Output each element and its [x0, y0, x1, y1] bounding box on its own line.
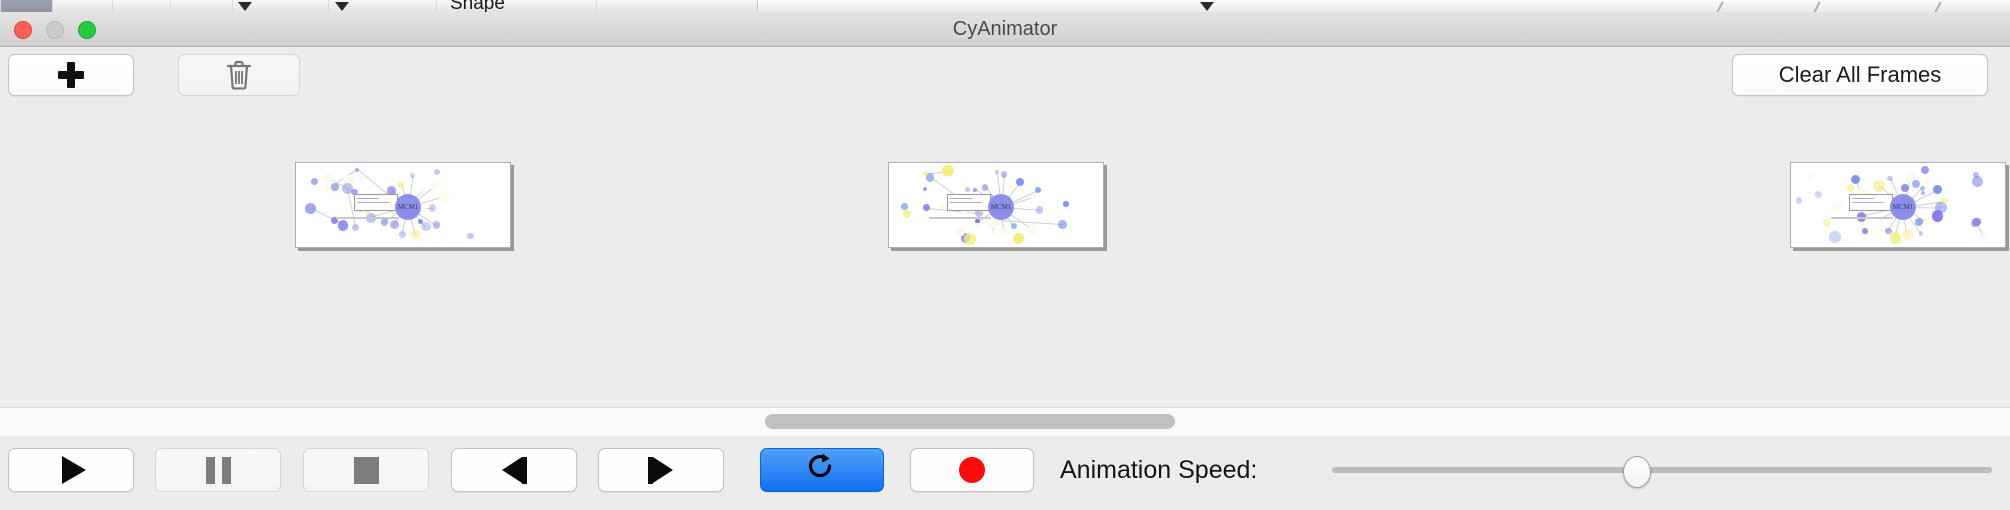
cyanimator-window: Shape CyAnimator Clear All Frames [0, 0, 2010, 510]
graph-node [411, 230, 421, 240]
graph-node [398, 182, 405, 189]
delete-frame-button[interactable] [178, 54, 300, 96]
graph-node [410, 173, 415, 178]
graph-node [995, 170, 999, 174]
network-graph: MCM1 [1791, 163, 2005, 247]
annotation-text-line [950, 202, 982, 203]
background-segment [0, 0, 54, 12]
skip-to-start-button[interactable] [451, 448, 577, 492]
graph-hub-node: MCM1 [395, 194, 421, 220]
skip-to-end-icon [648, 457, 674, 484]
record-button[interactable] [910, 448, 1034, 492]
graph-node [1796, 197, 1803, 204]
graph-caption [1831, 217, 1893, 219]
graph-node [903, 210, 911, 218]
graph-node [1013, 233, 1024, 244]
graph-node [433, 221, 441, 229]
graph-node [1915, 218, 1923, 226]
graph-node [438, 191, 449, 202]
graph-node [1063, 201, 1069, 207]
graph-node [1035, 187, 1041, 193]
clear-all-frames-label: Clear All Frames [1779, 62, 1942, 88]
graph-node [419, 187, 425, 193]
annotation-text-line [1852, 202, 1884, 203]
graph-node [1902, 229, 1913, 240]
graph-node [1933, 185, 1942, 194]
animation-speed-label: Animation Speed: [1060, 448, 1257, 492]
frame-toolbar: Clear All Frames [0, 47, 2010, 112]
slider-thumb[interactable] [1623, 456, 1651, 488]
graph-node [1932, 210, 1944, 222]
play-button[interactable] [8, 448, 134, 492]
graph-edge [357, 169, 389, 196]
graph-node [305, 203, 315, 213]
graph-node [1058, 220, 1067, 229]
stop-button[interactable] [303, 448, 429, 492]
graph-node [467, 233, 474, 240]
graph-node [1815, 191, 1822, 198]
annotation-text-line [1852, 198, 1874, 199]
background-window-label: Shape [450, 0, 505, 12]
pause-button[interactable] [155, 448, 281, 492]
graph-node [1901, 184, 1909, 192]
network-graph: MCM1 [889, 163, 1103, 247]
graph-node [1971, 220, 1978, 227]
scrollbar-thumb[interactable] [765, 414, 1175, 429]
graph-node [1851, 175, 1860, 184]
timeline-frame[interactable]: MCM1 [295, 162, 511, 248]
graph-node [1031, 194, 1037, 200]
graph-node [421, 222, 431, 232]
graph-node [418, 219, 423, 224]
record-icon [959, 457, 985, 483]
background-caret-icon [335, 2, 349, 11]
timeline-frame[interactable]: MCM1 [1790, 162, 2006, 248]
annotation-text-line [357, 198, 379, 199]
graph-node [1919, 231, 1923, 235]
graph-node [1973, 172, 1979, 178]
graph-node [1890, 232, 1901, 243]
animation-speed-slider[interactable] [1332, 448, 1992, 492]
background-window-strip: Shape [0, 0, 2010, 12]
background-segment [112, 0, 172, 12]
graph-node [923, 204, 930, 211]
graph-node [1941, 198, 1947, 204]
graph-node [381, 218, 388, 225]
graph-node [1873, 180, 1885, 192]
slider-track [1332, 467, 1992, 473]
graph-node [1982, 234, 1987, 239]
graph-node [1832, 202, 1842, 212]
graph-node [331, 183, 338, 190]
plus-icon [58, 62, 84, 88]
graph-node [1011, 223, 1017, 229]
graph-node [1885, 228, 1892, 235]
graph-node [982, 184, 989, 191]
graph-node [434, 169, 441, 176]
graph-node [1036, 206, 1044, 214]
background-segment [52, 0, 114, 12]
graph-node [990, 230, 996, 236]
graph-node [390, 220, 400, 230]
graph-node [1912, 180, 1920, 188]
graph-node [1020, 187, 1026, 193]
graph-node [311, 178, 318, 185]
graph-node [923, 187, 927, 191]
graph-node [429, 204, 437, 212]
graph-caption [929, 217, 991, 219]
background-segment [170, 0, 234, 12]
graph-node [1847, 184, 1855, 192]
loop-icon [807, 454, 837, 486]
graph-node [1000, 228, 1007, 235]
annotation-text-line [950, 198, 972, 199]
annotation-text-line [357, 202, 389, 203]
timeline-frame[interactable]: MCM1 [888, 162, 1104, 248]
graph-node [1921, 166, 1929, 174]
graph-node [1028, 224, 1039, 235]
playback-control-bar: Animation Speed: [0, 436, 2010, 510]
graph-caption [336, 217, 398, 219]
graph-node [355, 168, 359, 172]
graph-node [965, 187, 970, 192]
loop-button[interactable] [760, 448, 884, 492]
graph-node [1829, 231, 1841, 243]
timeline-panel[interactable]: MCM1MCM1MCM1 12131415161718 Seconds [0, 111, 2010, 407]
clear-all-frames-button[interactable]: Clear All Frames [1732, 54, 1988, 96]
trash-icon [225, 59, 253, 91]
title-bar: CyAnimator [0, 12, 2010, 47]
timeline-scrollbar[interactable] [0, 407, 2010, 437]
graph-node [1016, 178, 1024, 186]
graph-node [1001, 171, 1007, 177]
graph-node [939, 203, 945, 209]
graph-node [1823, 219, 1831, 227]
network-graph: MCM1 [296, 163, 510, 247]
pause-icon [206, 457, 231, 484]
background-caret-icon [1200, 2, 1214, 11]
stop-icon [354, 457, 379, 484]
add-frame-button[interactable] [8, 54, 134, 96]
graph-node [352, 224, 359, 231]
graph-node [338, 220, 349, 231]
background-segment [596, 0, 758, 12]
graph-node [1887, 176, 1893, 182]
skip-to-start-icon [501, 457, 527, 484]
window-title: CyAnimator [0, 12, 2010, 46]
graph-node [1807, 174, 1813, 180]
graph-node [964, 233, 976, 245]
play-icon [62, 456, 86, 484]
graph-node [1921, 191, 1925, 195]
graph-node [975, 219, 979, 223]
graph-node [1862, 228, 1868, 234]
graph-hub-node: MCM1 [988, 194, 1014, 220]
graph-node [942, 165, 954, 177]
background-caret-icon [238, 2, 252, 11]
graph-node [1045, 213, 1049, 217]
skip-to-end-button[interactable] [598, 448, 724, 492]
graph-node [430, 182, 439, 191]
graph-node [399, 231, 406, 238]
graph-hub-node: MCM1 [1890, 194, 1916, 220]
